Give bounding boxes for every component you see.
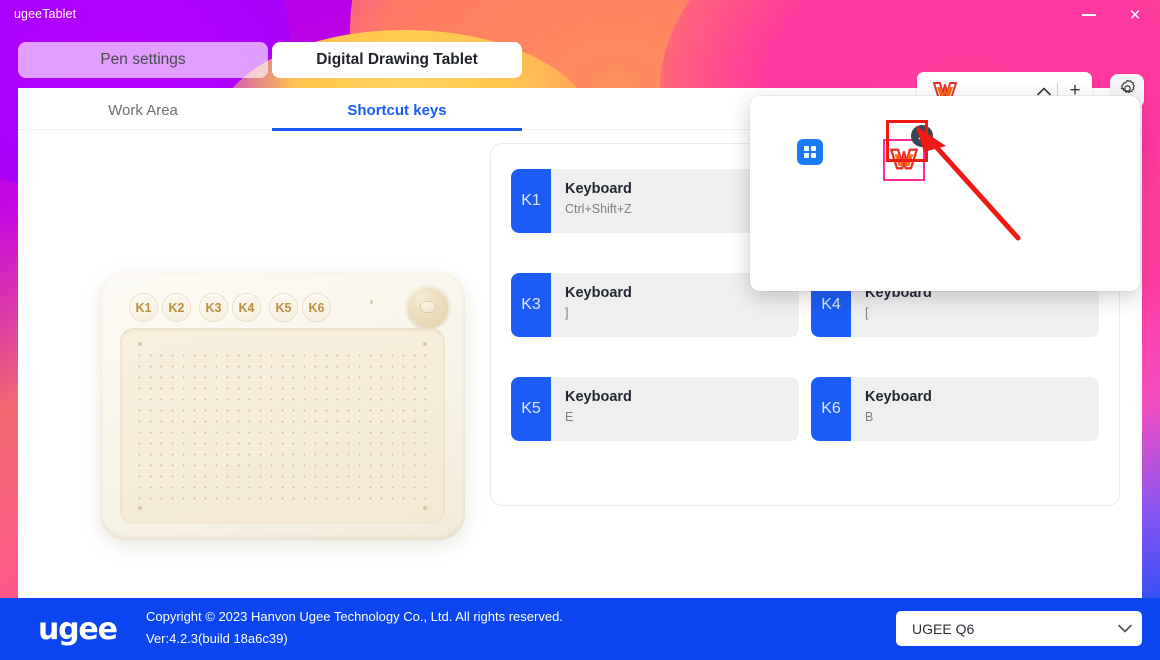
tablet-dot-grid — [134, 350, 431, 502]
app-title: ugeeTablet — [14, 7, 76, 21]
tablet-key-k2[interactable]: K2 — [163, 294, 190, 321]
shortcut-badge-k6: K6 — [811, 377, 851, 441]
tab-digital-drawing-tablet-label: Digital Drawing Tablet — [316, 51, 478, 69]
tablet-led-indicator — [370, 300, 374, 304]
tab-digital-drawing-tablet[interactable]: Digital Drawing Tablet — [272, 42, 522, 78]
close-window-button[interactable]: × — [1112, 0, 1158, 30]
tablet-dial-inner — [420, 301, 436, 313]
minimize-icon — [1082, 14, 1096, 16]
tablet-key-k3[interactable]: K3 — [200, 294, 227, 321]
chevron-down-icon[interactable] — [1108, 621, 1142, 636]
tablet-illustration: K1 K2 K3 K4 K5 K6 ‖‖ — [78, 258, 483, 558]
shortcut-badge-k3: K3 — [511, 273, 551, 337]
tablet-key-k6-label: K6 — [309, 301, 325, 315]
app-window: ugeeTablet × Pen settings Digital Drawin… — [0, 0, 1160, 660]
app-grid-icon[interactable] — [797, 139, 823, 165]
copyright-text: Copyright © 2023 Hanvon Ugee Technology … — [146, 609, 563, 624]
shortcut-value-k4: [ — [865, 306, 1099, 321]
shortcut-text-k6: Keyboard B — [851, 377, 1099, 441]
tablet-corner-dot — [138, 342, 142, 346]
tablet-key-k5-label: K5 — [276, 301, 292, 315]
close-icon: × — [1129, 6, 1140, 25]
tablet-key-k3-label: K3 — [206, 301, 222, 315]
tablet-key-k1-label: K1 — [136, 301, 152, 315]
tablet-dial[interactable] — [407, 286, 449, 328]
shortcut-text-k5: Keyboard E — [551, 377, 799, 441]
active-tab-underline — [272, 128, 522, 131]
tablet-body: K1 K2 K3 K4 K5 K6 ‖‖ — [100, 272, 465, 540]
tablet-key-k6[interactable]: K6 — [303, 294, 330, 321]
shortcut-badge-k5-label: K5 — [521, 400, 541, 418]
annotation-arrow — [890, 118, 1030, 248]
shortcut-title-k6: Keyboard — [865, 388, 1099, 406]
shortcut-row-k5[interactable]: K5 Keyboard E — [511, 377, 799, 441]
tablet-corner-dot — [423, 342, 427, 346]
tab-shortcut-keys[interactable]: Shortcut keys — [272, 92, 522, 129]
shortcut-badge-k3-label: K3 — [521, 296, 541, 314]
tab-pen-settings-label: Pen settings — [100, 51, 185, 69]
shortcut-value-k3: ] — [565, 306, 799, 321]
device-select-label: UGEE Q6 — [896, 621, 1108, 637]
tab-work-area-label: Work Area — [108, 102, 178, 119]
tab-pen-settings[interactable]: Pen settings — [18, 42, 268, 78]
tablet-corner-dot — [423, 506, 427, 510]
tab-shortcut-keys-label: Shortcut keys — [347, 102, 446, 119]
shortcut-badge-k6-label: K6 — [821, 400, 841, 418]
shortcut-title-k5: Keyboard — [565, 388, 799, 406]
tablet-key-k5[interactable]: K5 — [270, 294, 297, 321]
minimize-button[interactable] — [1066, 0, 1112, 30]
shortcut-badge-k1: K1 — [511, 169, 551, 233]
version-text: Ver:4.2.3(build 18a6c39) — [146, 631, 288, 646]
shortcut-value-k5: E — [565, 410, 799, 425]
shortcut-badge-k5: K5 — [511, 377, 551, 441]
footer-bar: ugee Copyright © 2023 Hanvon Ugee Techno… — [0, 598, 1160, 660]
shortcut-value-k6: B — [865, 410, 1099, 425]
tablet-key-k1[interactable]: K1 — [130, 294, 157, 321]
tablet-active-area — [120, 328, 445, 524]
shortcut-row-k6[interactable]: K6 Keyboard B — [811, 377, 1099, 441]
shortcut-badge-k1-label: K1 — [521, 192, 541, 210]
tablet-key-k4[interactable]: K4 — [233, 294, 260, 321]
device-select[interactable]: UGEE Q6 — [896, 611, 1142, 646]
tab-work-area[interactable]: Work Area — [18, 92, 268, 129]
top-tab-strip: Pen settings Digital Drawing Tablet + — [0, 30, 1160, 88]
tablet-corner-dot — [138, 506, 142, 510]
tablet-key-k4-label: K4 — [239, 301, 255, 315]
shortcut-badge-k4-label: K4 — [821, 296, 841, 314]
tablet-key-k2-label: K2 — [169, 301, 185, 315]
ugee-logo: ugee — [38, 612, 117, 647]
title-bar: ugeeTablet × — [0, 0, 1160, 30]
